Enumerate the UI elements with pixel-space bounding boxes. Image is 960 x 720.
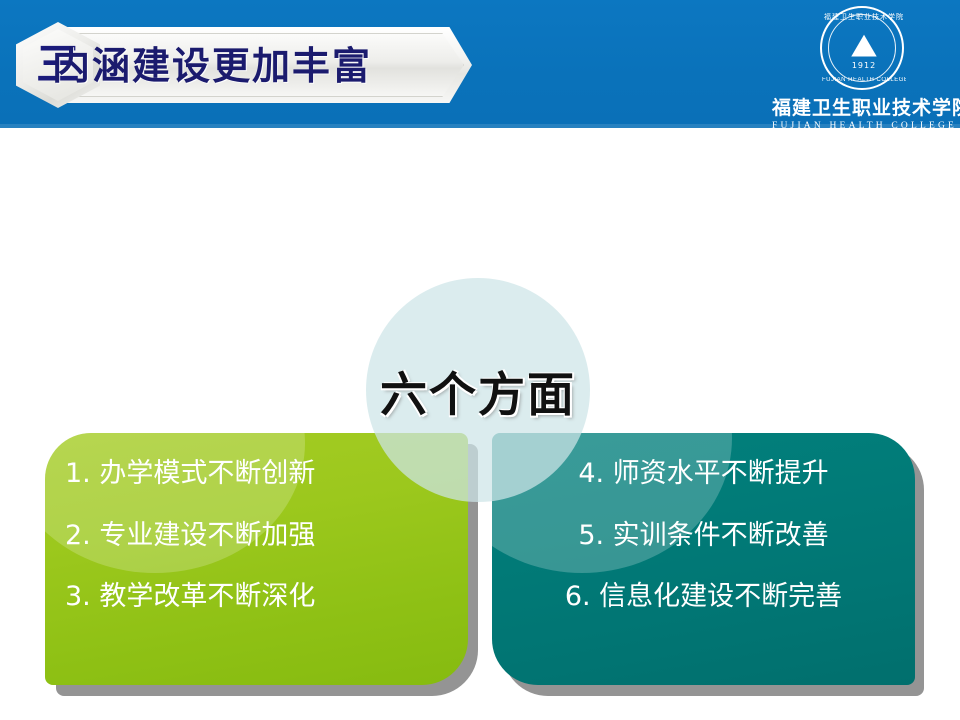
list-item: 6. 信息化建设不断完善 — [492, 582, 915, 612]
list-item: 3. 教学改革不断深化 — [45, 582, 468, 612]
logo-founding-year: 1912 — [822, 61, 906, 70]
college-name-chinese: 福建卫生职业技术学院 — [772, 93, 952, 120]
logo-mountain-icon: ⛰ — [842, 30, 886, 64]
slide-body: 1. 办学模式不断创新 2. 专业建设不断加强 3. 教学改革不断深化 4. 师… — [0, 128, 960, 720]
page-title: 内涵建设更加丰富 — [52, 36, 392, 96]
list-item: 5. 实训条件不断改善 — [492, 521, 915, 551]
logo-arc-top-text: 福建卫生职业技术学院 — [822, 12, 906, 22]
logo-emblem-icon: 福建卫生职业技术学院 ⛰ 1912 FUJIAN HEALTH COLLEGE — [820, 6, 904, 90]
list-item: 2. 专业建设不断加强 — [45, 521, 468, 551]
college-logo: 福建卫生职业技术学院 ⛰ 1912 FUJIAN HEALTH COLLEGE … — [772, 4, 952, 126]
center-heading: 六个方面 — [366, 278, 590, 502]
logo-arc-bottom-text: FUJIAN HEALTH COLLEGE — [822, 77, 906, 83]
header-bar: 三 内涵建设更加丰富 福建卫生职业技术学院 ⛰ 1912 FUJIAN HEAL… — [0, 0, 960, 128]
slide: 三 内涵建设更加丰富 福建卫生职业技术学院 ⛰ 1912 FUJIAN HEAL… — [0, 0, 960, 720]
